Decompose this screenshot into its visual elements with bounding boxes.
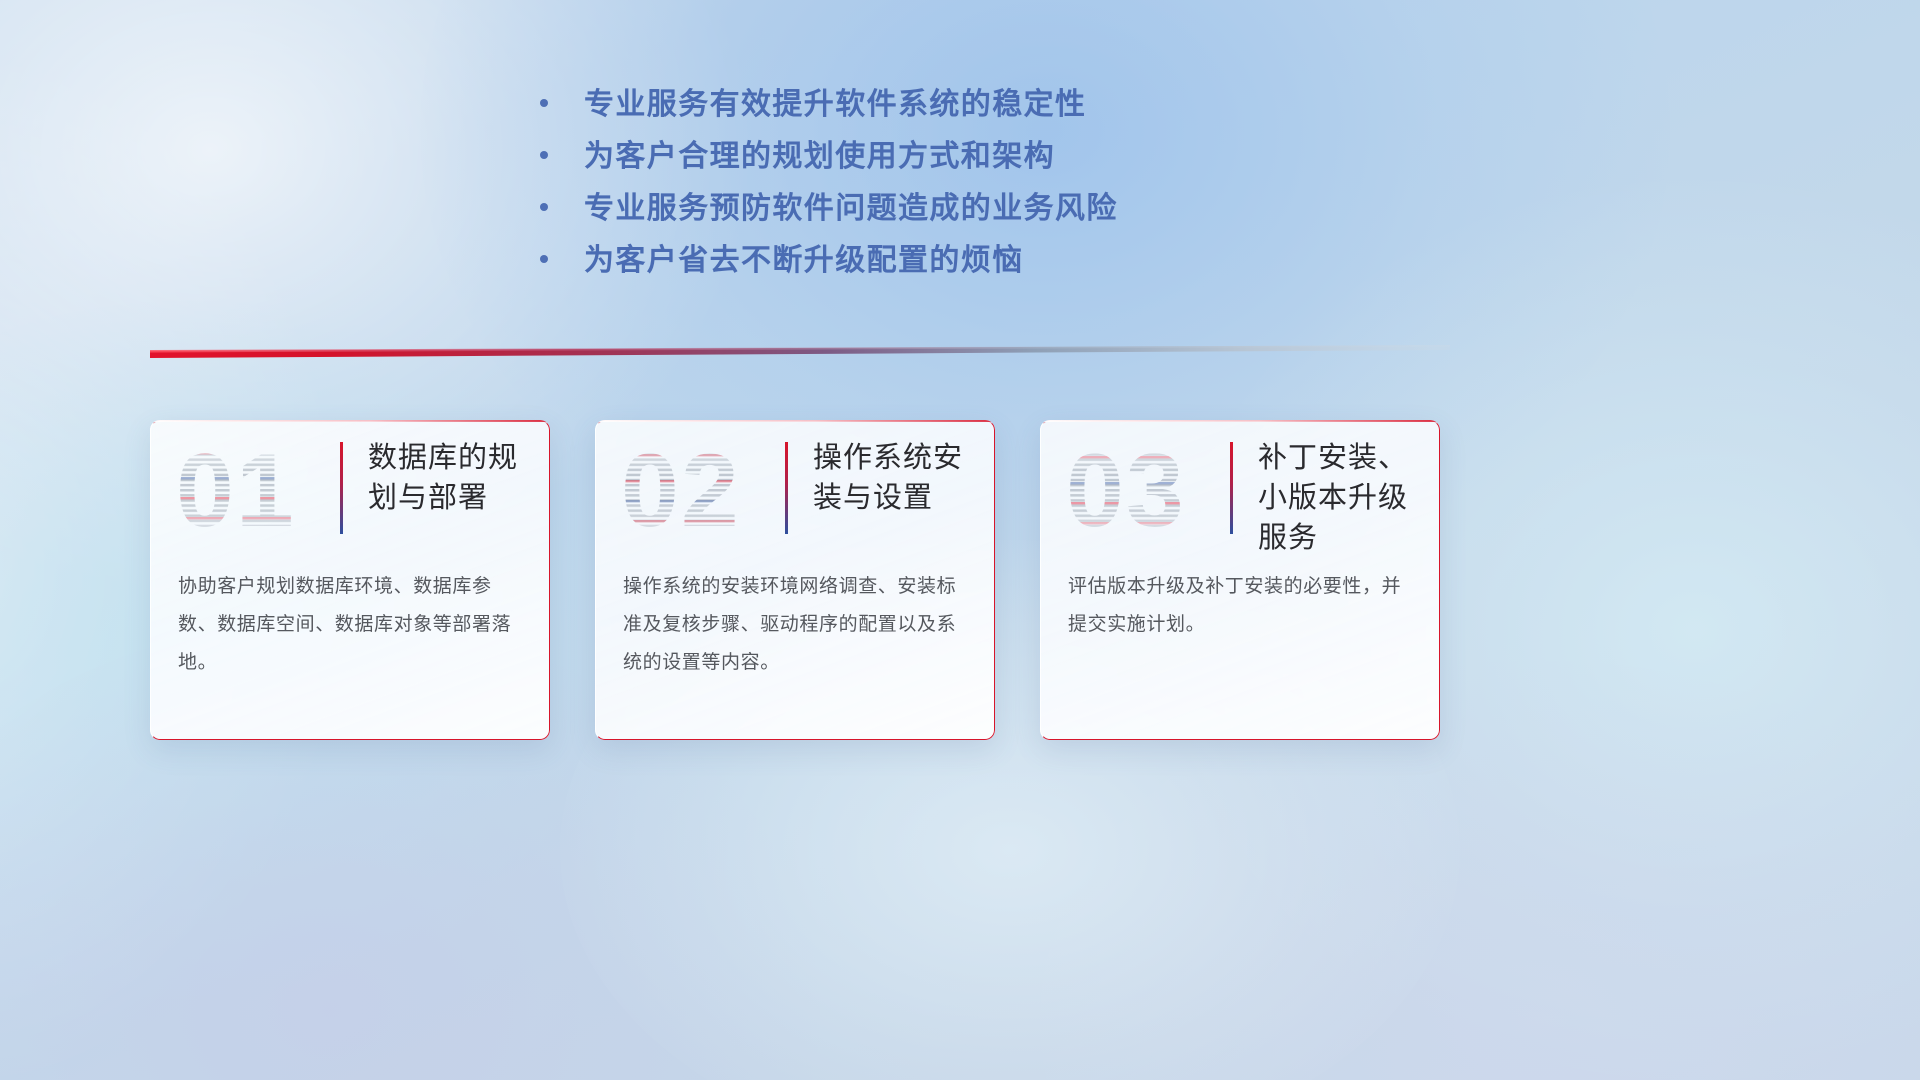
bullet-label: 为客户合理的规划使用方式和架构: [584, 142, 1055, 172]
list-item: 专业服务有效提升软件系统的稳定性: [540, 90, 1118, 142]
divider-blade-shape: [150, 345, 1450, 367]
bullet-dot-icon: [540, 151, 548, 159]
service-card[interactable]: 02: [595, 420, 995, 740]
card-header: 01: [150, 420, 550, 550]
card-title-rule: [1230, 442, 1233, 534]
card-number-01-striped: 01: [174, 438, 309, 540]
card-number-02-striped: 02: [619, 438, 754, 540]
service-card-list: 01: [150, 420, 1440, 740]
bullet-dot-icon: [540, 203, 548, 211]
service-card[interactable]: 01: [150, 420, 550, 740]
list-item: 为客户省去不断升级配置的烦恼: [540, 246, 1118, 298]
card-title-rule: [340, 442, 343, 534]
service-card[interactable]: 03: [1040, 420, 1440, 740]
bullet-dot-icon: [540, 255, 548, 263]
slide-content: 专业服务有效提升软件系统的稳定性 为客户合理的规划使用方式和架构 专业服务预防软…: [0, 0, 1920, 1080]
card-description: 协助客户规划数据库环境、数据库参数、数据库空间、数据库对象等部署落地。: [178, 568, 524, 682]
card-title: 数据库的规划与部署: [368, 438, 536, 518]
card-number-watermark: 01: [174, 438, 309, 540]
card-header: 03: [1040, 420, 1440, 550]
card-title: 操作系统安装与设置: [813, 438, 981, 518]
bullet-label: 专业服务预防软件问题造成的业务风险: [584, 194, 1118, 224]
card-title: 补丁安装、小版本升级服务: [1258, 438, 1426, 558]
card-description: 评估版本升级及补丁安装的必要性，并提交实施计划。: [1068, 568, 1414, 644]
card-number-watermark: 03: [1064, 438, 1199, 540]
card-description: 操作系统的安装环境网络调查、安装标准及复核步骤、驱动程序的配置以及系统的设置等内…: [623, 568, 969, 682]
section-divider: [150, 345, 1450, 367]
card-number-watermark: 02: [619, 438, 754, 540]
list-item: 专业服务预防软件问题造成的业务风险: [540, 194, 1118, 246]
list-item: 为客户合理的规划使用方式和架构: [540, 142, 1118, 194]
card-header: 02: [595, 420, 995, 550]
bullet-label: 为客户省去不断升级配置的烦恼: [584, 246, 1024, 276]
benefits-bullet-list: 专业服务有效提升软件系统的稳定性 为客户合理的规划使用方式和架构 专业服务预防软…: [540, 90, 1118, 298]
card-number-03-striped: 03: [1064, 438, 1199, 540]
bullet-dot-icon: [540, 99, 548, 107]
card-title-rule: [785, 442, 788, 534]
bullet-label: 专业服务有效提升软件系统的稳定性: [584, 90, 1086, 120]
